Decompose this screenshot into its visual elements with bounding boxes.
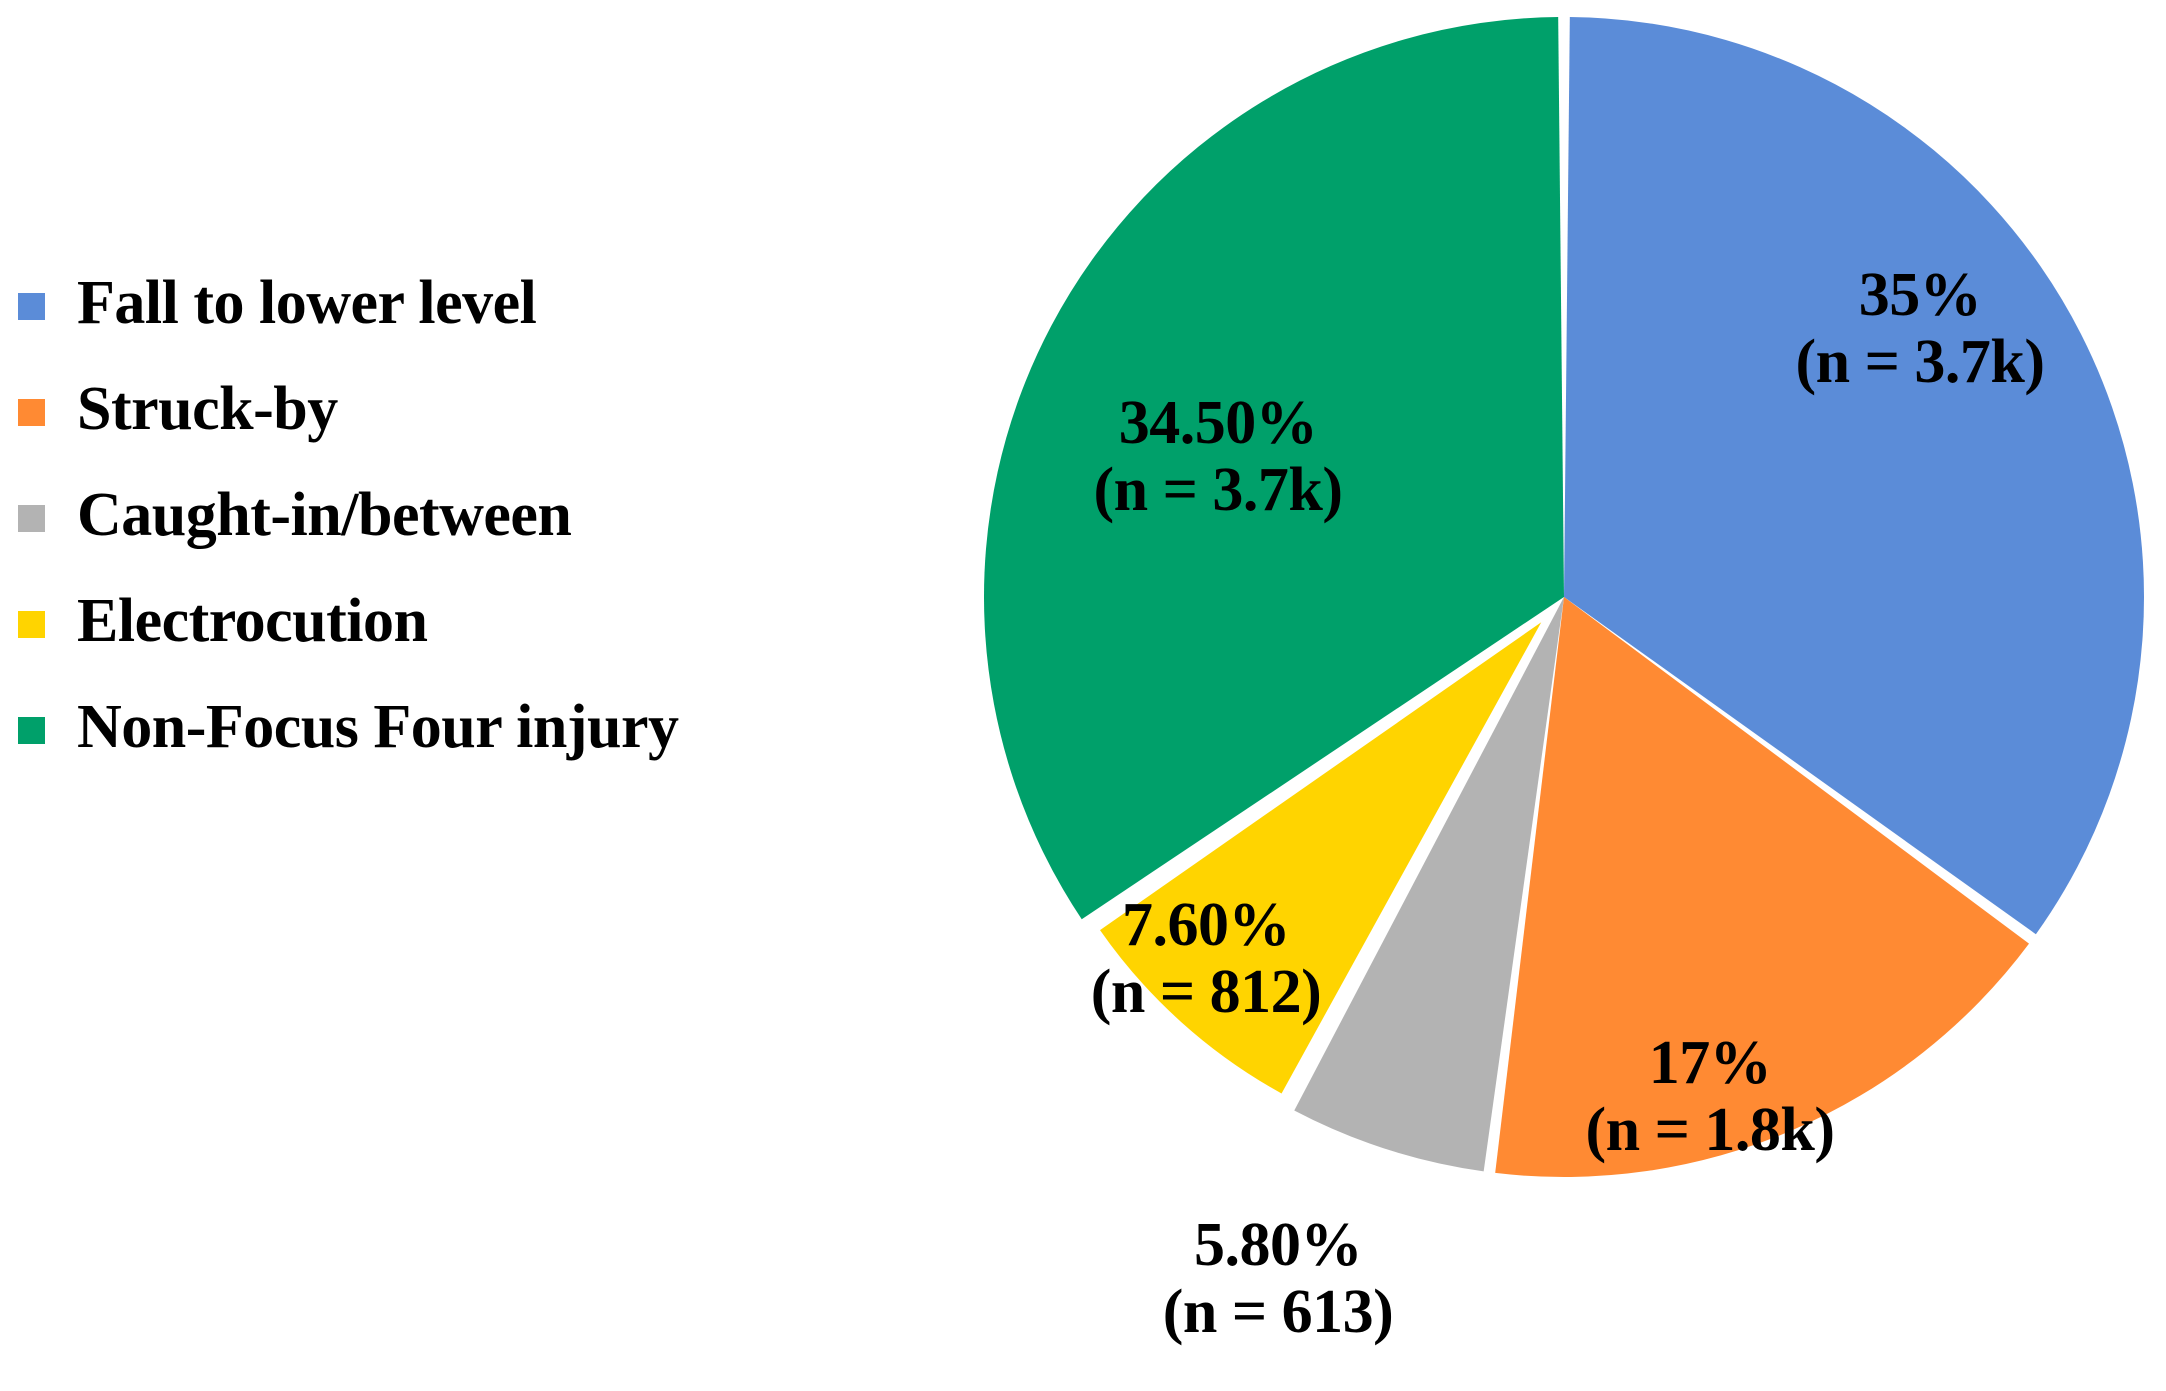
legend-item-struck: Struck-by: [18, 364, 938, 454]
legend-label-electrocution: Electrocution: [77, 590, 428, 652]
slice-n-nonfocus: (n = 3.7k): [1008, 457, 1428, 524]
slice-n-electrocution: (n = 812): [1006, 959, 1406, 1026]
slice-n-caught: (n = 613): [1048, 1279, 1508, 1346]
slice-pct-nonfocus: 34.50%: [1008, 390, 1428, 457]
legend-swatch-caught-icon: [18, 505, 45, 532]
legend-label-caught: Caught-in/between: [77, 484, 571, 546]
slice-n-fall: (n = 3.7k): [1710, 329, 2130, 396]
legend-swatch-electrocution-icon: [18, 611, 45, 638]
legend-swatch-fall-icon: [18, 293, 45, 320]
slice-pct-struck: 17%: [1500, 1030, 1920, 1097]
legend-item-caught: Caught-in/between: [18, 470, 938, 560]
slice-n-struck: (n = 1.8k): [1500, 1097, 1920, 1164]
legend-item-fall: Fall to lower level: [18, 258, 938, 348]
slice-label-struck: 17% (n = 1.8k): [1500, 1030, 1920, 1164]
pie-chart-figure: 35% (n = 3.7k) 17% (n = 1.8k) 5.80% (n =…: [0, 0, 2166, 1391]
slice-pct-caught: 5.80%: [1048, 1212, 1508, 1279]
legend-swatch-struck-icon: [18, 399, 45, 426]
legend-swatch-nonfocus-icon: [18, 717, 45, 744]
legend-label-nonfocus: Non-Focus Four injury: [77, 696, 679, 758]
slice-label-fall: 35% (n = 3.7k): [1710, 262, 2130, 396]
slice-label-electrocution: 7.60% (n = 812): [1006, 892, 1406, 1026]
legend-item-nonfocus: Non-Focus Four injury: [18, 682, 938, 772]
chart-legend: Fall to lower level Struck-by Caught-in/…: [18, 258, 938, 788]
slice-label-nonfocus: 34.50% (n = 3.7k): [1008, 390, 1428, 524]
slice-label-caught: 5.80% (n = 613): [1048, 1212, 1508, 1346]
legend-label-struck: Struck-by: [77, 378, 338, 440]
legend-item-electrocution: Electrocution: [18, 576, 938, 666]
legend-label-fall: Fall to lower level: [77, 272, 536, 334]
slice-pct-fall: 35%: [1710, 262, 2130, 329]
slice-pct-electrocution: 7.60%: [1006, 892, 1406, 959]
